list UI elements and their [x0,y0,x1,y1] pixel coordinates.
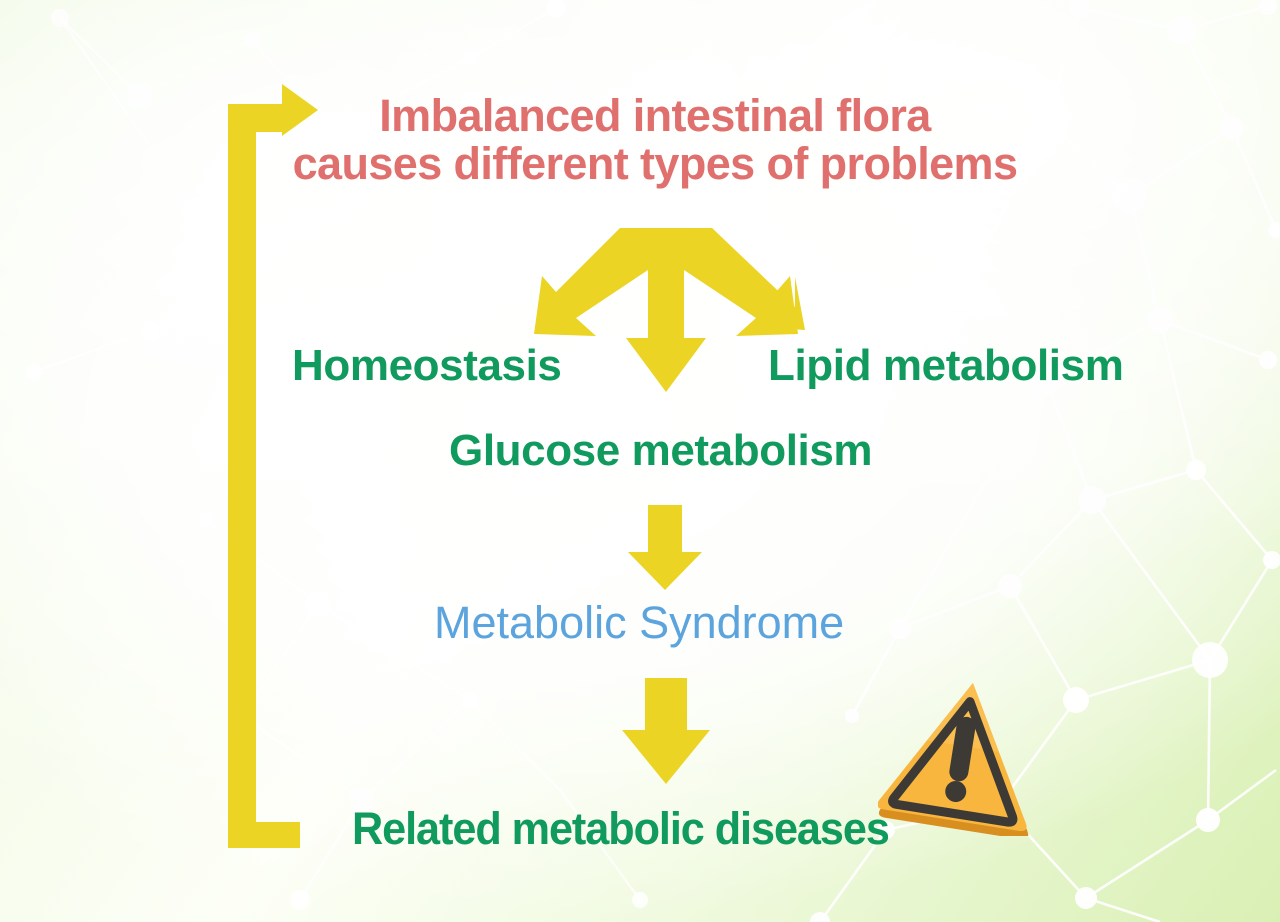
node-metabolic-syndrome: Metabolic Syndrome [434,600,844,647]
arrow-syndrome-to-diseases [622,678,710,784]
feedback-loop-arrow [228,84,318,848]
warning-triangle-icon [878,668,1046,836]
title-line-2: causes different types of problems [30,140,1280,188]
branching-arrow-group [534,228,798,392]
node-glucose-metabolism: Glucose metabolism [449,428,872,474]
arrow-glucose-to-syndrome [628,505,702,590]
node-related-metabolic-diseases: Related metabolic diseases [352,806,889,853]
page-title: Imbalanced intestinal flora causes diffe… [0,92,1280,187]
title-line-1: Imbalanced intestinal flora [379,90,930,141]
node-lipid-metabolism: Lipid metabolism [768,343,1123,389]
node-homeostasis: Homeostasis [292,343,561,389]
diagram-canvas: Imbalanced intestinal flora causes diffe… [0,0,1280,922]
